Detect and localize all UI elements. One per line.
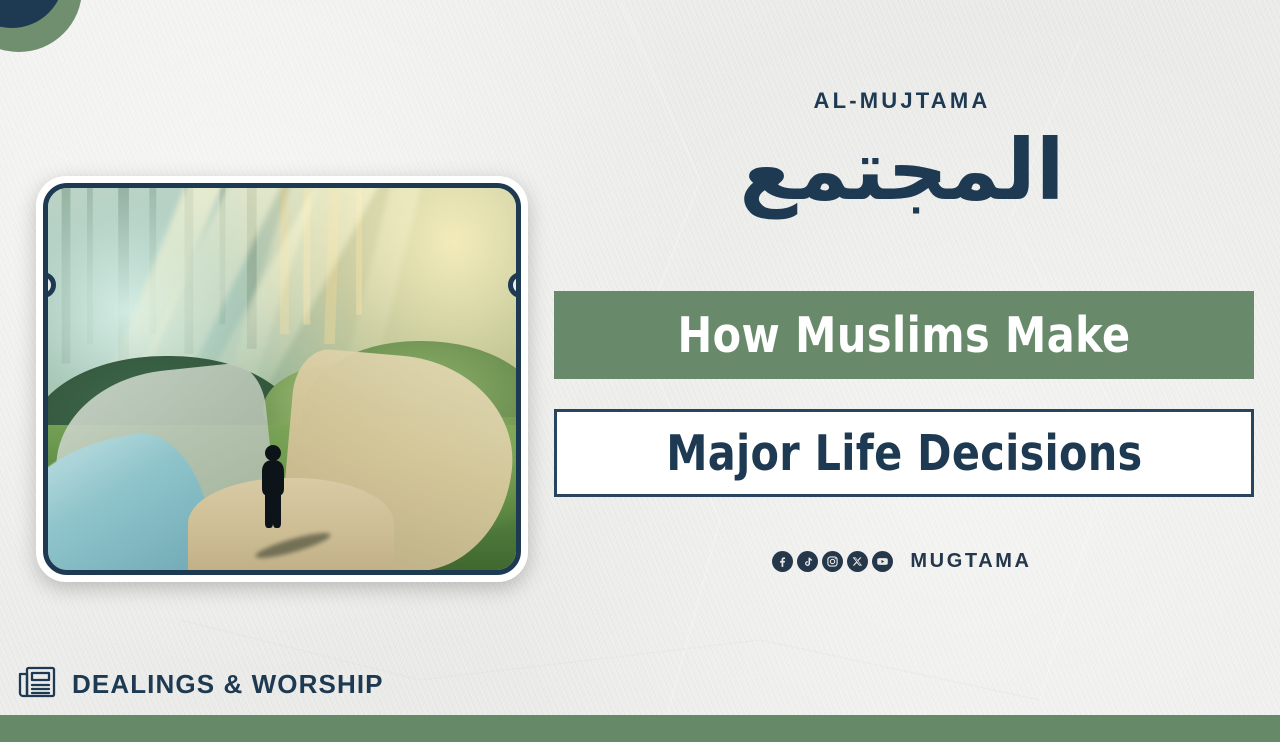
x-icon[interactable] xyxy=(847,551,868,572)
headline-bar-secondary: Major Life Decisions xyxy=(554,409,1254,497)
brand-name: AL-MUJTAMA xyxy=(546,88,1258,114)
article-image-card xyxy=(36,176,528,582)
person-silhouette xyxy=(254,444,292,530)
article-image xyxy=(43,183,521,575)
instagram-icon[interactable] xyxy=(822,551,843,572)
headline-line-1: How Muslims Make xyxy=(677,307,1130,364)
card-notch-mask-right xyxy=(516,267,521,303)
footer-accent-bar xyxy=(0,715,1280,742)
youtube-icon[interactable] xyxy=(872,551,893,572)
tiktok-icon[interactable] xyxy=(797,551,818,572)
brand-arabic-logo: المجتمع xyxy=(546,118,1258,223)
category-footer: DEALINGS & WORSHIP xyxy=(18,665,384,704)
headline-line-2: Major Life Decisions xyxy=(666,425,1142,482)
card-notch-mask-left xyxy=(43,267,48,303)
headline-bar-primary: How Muslims Make xyxy=(554,291,1254,379)
poster-canvas: AL-MUJTAMA المجتمع How Muslims Make Majo… xyxy=(0,0,1280,742)
social-links-row: MUGTAMA xyxy=(546,550,1258,573)
brand-block: AL-MUJTAMA المجتمع xyxy=(546,88,1258,223)
forest-fork-illustration xyxy=(48,188,516,570)
facebook-icon[interactable] xyxy=(772,551,793,572)
category-label: DEALINGS & WORSHIP xyxy=(72,669,384,700)
newspaper-icon xyxy=(18,665,56,704)
social-handle: MUGTAMA xyxy=(910,550,1031,573)
